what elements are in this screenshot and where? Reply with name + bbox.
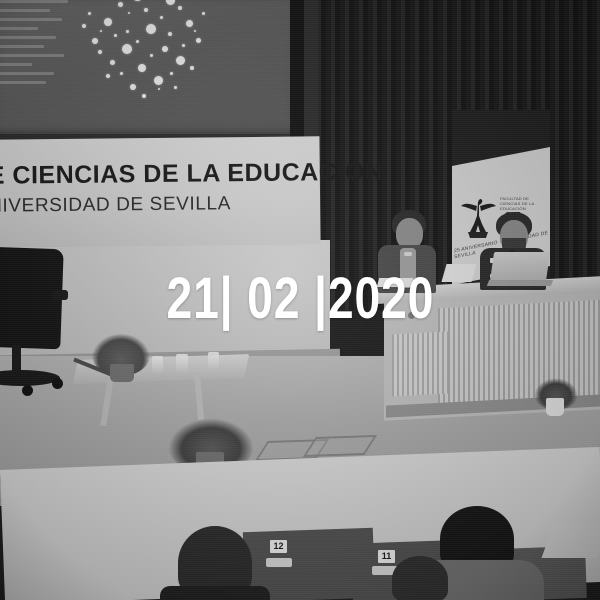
- necklace: [404, 252, 412, 256]
- slide-text-lines: [0, 0, 72, 104]
- papers-on-table: [441, 264, 476, 282]
- hair: [392, 556, 448, 600]
- winged-victory-logo-icon: [460, 194, 496, 240]
- seat-number-plaque: 12: [270, 540, 287, 553]
- water-glass: [208, 352, 219, 370]
- laptop-keyboard: [487, 280, 553, 286]
- chair-armrest: [52, 290, 68, 300]
- presenter-table-slat-panel: [392, 332, 448, 397]
- signage-line-2: NIVERSIDAD DE SEVILLA: [0, 193, 231, 218]
- water-glass: [176, 354, 188, 373]
- signage-line-1: E CIENCIAS DE LA EDUCACIÓN: [0, 158, 383, 191]
- banner-heading-text: FACULTAD DE CIENCIAS DE LA EDUCACIÓN: [500, 196, 548, 211]
- water-glass: [152, 356, 163, 374]
- chair-caster: [52, 378, 63, 389]
- projection-screen: [0, 0, 298, 134]
- plant-pot: [546, 398, 564, 416]
- laptop-screen: [490, 252, 550, 282]
- torso: [160, 586, 270, 600]
- table-cable-knob: [408, 312, 415, 319]
- dot-network-graphic: [74, 0, 219, 82]
- wall-signage-band: E CIENCIAS DE LA EDUCACIÓN NIVERSIDAD DE…: [0, 136, 321, 247]
- seat-latch: [266, 558, 292, 567]
- papers-on-table: [377, 278, 414, 287]
- plant-pot: [110, 364, 134, 382]
- chair-caster: [22, 385, 33, 396]
- screen-frame-edge: [290, 0, 304, 140]
- event-photo: E CIENCIAS DE LA EDUCACIÓN NIVERSIDAD DE…: [0, 0, 600, 600]
- seat-number-plaque: 11: [378, 550, 395, 563]
